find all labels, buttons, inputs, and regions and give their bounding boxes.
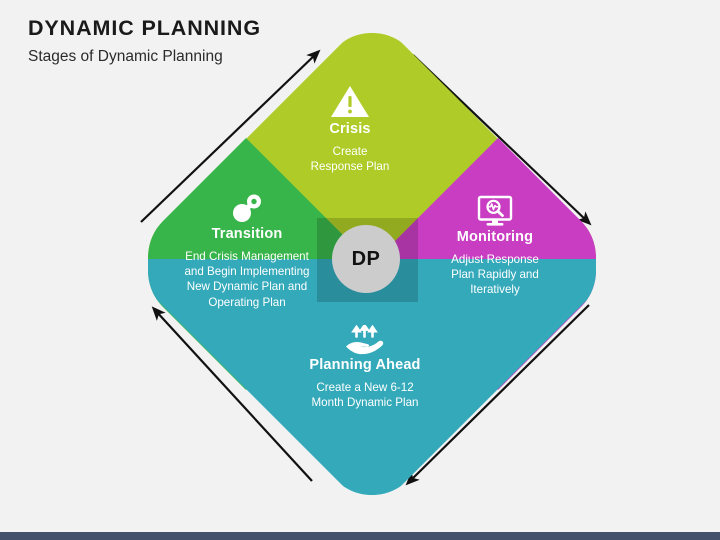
slide-canvas: DYNAMIC PLANNING Stages of Dynamic Plann… xyxy=(0,0,720,540)
center-badge: DP xyxy=(332,225,400,293)
footer-bar xyxy=(0,532,720,540)
center-badge-label: DP xyxy=(352,248,381,271)
